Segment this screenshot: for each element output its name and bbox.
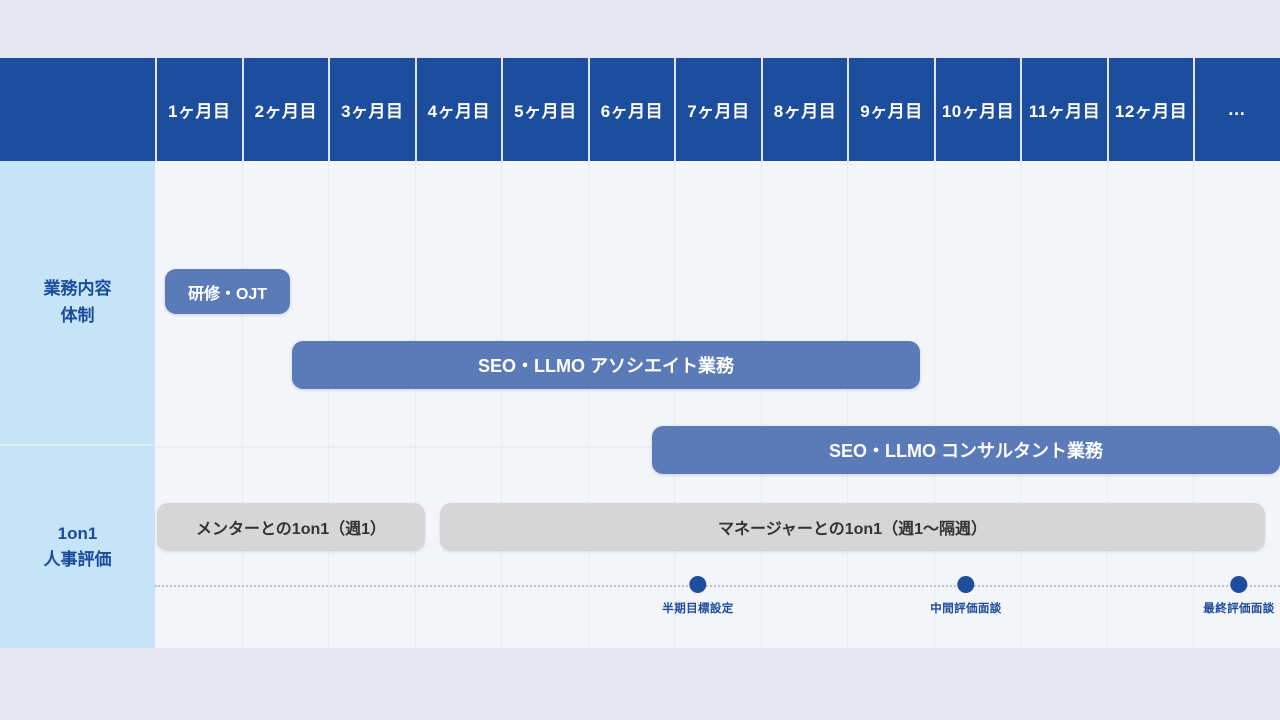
gantt-bar[interactable]: SEO・LLMO アソシエイト業務 bbox=[292, 341, 920, 389]
row-label-line2: 体制 bbox=[61, 303, 95, 329]
gantt-bar[interactable]: マネージャーとの1on1（週1〜隔週） bbox=[440, 503, 1265, 551]
milestone-dot-icon bbox=[1231, 576, 1248, 593]
timeline-track-area: 研修・OJTSEO・LLMO アソシエイト業務SEO・LLMO コンサルタント業… bbox=[155, 161, 1280, 648]
gridline bbox=[847, 161, 848, 648]
gridline bbox=[328, 161, 329, 648]
month-header-cell-1[interactable]: 1ヶ月目 bbox=[155, 58, 242, 161]
gridline bbox=[934, 161, 935, 648]
gridline bbox=[242, 161, 243, 648]
gridline bbox=[501, 161, 502, 648]
month-header-cell-7[interactable]: 7ヶ月目 bbox=[674, 58, 761, 161]
gridline bbox=[415, 161, 416, 648]
milestone-label: 中間評価面談 bbox=[930, 600, 1001, 616]
month-header-cell-5[interactable]: 5ヶ月目 bbox=[501, 58, 588, 161]
gridline bbox=[761, 161, 762, 648]
month-header-cell-9[interactable]: 9ヶ月目 bbox=[847, 58, 934, 161]
month-header-cell-3[interactable]: 3ヶ月目 bbox=[328, 58, 415, 161]
month-header-cell-4[interactable]: 4ヶ月目 bbox=[415, 58, 502, 161]
gantt-bar[interactable]: メンターとの1on1（週1） bbox=[157, 503, 425, 551]
month-header-cell-6[interactable]: 6ヶ月目 bbox=[588, 58, 675, 161]
timeline-header-row: 1ヶ月目2ヶ月目3ヶ月目4ヶ月目5ヶ月目6ヶ月目7ヶ月目8ヶ月目9ヶ月目10ヶ月… bbox=[0, 58, 1280, 161]
milestone-dot-icon bbox=[690, 576, 707, 593]
chart-body: 業務内容 体制 1on1 人事評価 研修・OJTSEO・LLMO アソシエイト業… bbox=[0, 161, 1280, 648]
milestone-layer: 半期目標設定中間評価面談最終評価面談 bbox=[155, 161, 1280, 648]
month-header-cell-8[interactable]: 8ヶ月目 bbox=[761, 58, 848, 161]
month-header-cell-12[interactable]: 12ヶ月目 bbox=[1107, 58, 1194, 161]
month-header-cell-2[interactable]: 2ヶ月目 bbox=[242, 58, 329, 161]
row-label-column: 業務内容 体制 1on1 人事評価 bbox=[0, 161, 155, 648]
milestone-label: 最終評価面談 bbox=[1203, 600, 1274, 616]
gridline bbox=[1193, 161, 1194, 648]
header-corner-cell bbox=[0, 58, 155, 161]
row-label-line2: 人事評価 bbox=[44, 547, 112, 573]
row-label-line1: 1on1 bbox=[58, 521, 98, 547]
milestone-dot-icon bbox=[958, 576, 975, 593]
gridline bbox=[1020, 161, 1021, 648]
row-label-1on1-jinji-hyoka: 1on1 人事評価 bbox=[0, 446, 155, 648]
milestone[interactable]: 半期目標設定 bbox=[662, 576, 733, 616]
gridline bbox=[674, 161, 675, 648]
milestone-label: 半期目標設定 bbox=[662, 600, 733, 616]
gridline bbox=[588, 161, 589, 648]
gantt-bar[interactable]: 研修・OJT bbox=[165, 269, 290, 314]
gridline bbox=[1107, 161, 1108, 648]
month-header-cell-13[interactable]: … bbox=[1193, 58, 1280, 161]
milestone[interactable]: 中間評価面談 bbox=[930, 576, 1001, 616]
month-header-cell-11[interactable]: 11ヶ月目 bbox=[1020, 58, 1107, 161]
month-header-cell-10[interactable]: 10ヶ月目 bbox=[934, 58, 1021, 161]
milestone[interactable]: 最終評価面談 bbox=[1203, 576, 1274, 616]
career-roadmap-gantt-chart: 1ヶ月目2ヶ月目3ヶ月目4ヶ月目5ヶ月目6ヶ月目7ヶ月目8ヶ月目9ヶ月目10ヶ月… bbox=[0, 58, 1280, 648]
row-label-gyomu-naiyo: 業務内容 体制 bbox=[0, 161, 155, 446]
gantt-bar[interactable]: SEO・LLMO コンサルタント業務 bbox=[652, 426, 1280, 474]
row-label-line1: 業務内容 bbox=[44, 276, 112, 302]
month-header-cells: 1ヶ月目2ヶ月目3ヶ月目4ヶ月目5ヶ月目6ヶ月目7ヶ月目8ヶ月目9ヶ月目10ヶ月… bbox=[155, 58, 1280, 161]
